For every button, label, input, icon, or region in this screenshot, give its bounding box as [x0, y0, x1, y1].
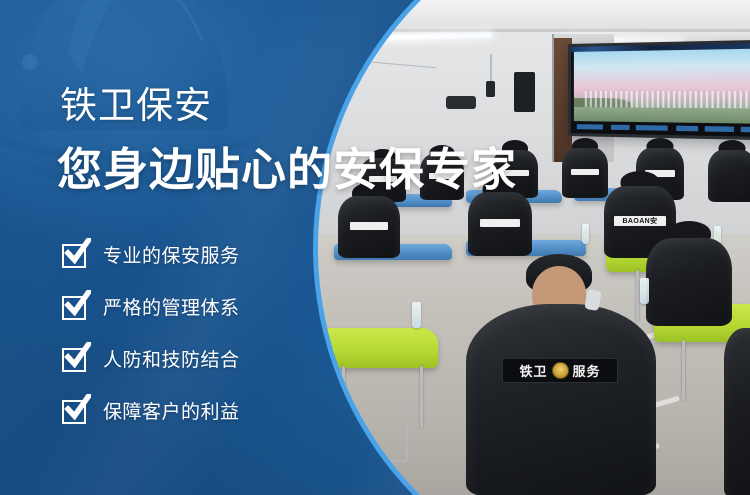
guard-torso [466, 304, 656, 495]
feature-item[interactable]: 专业的保安服务 [62, 238, 240, 270]
uniform-back-patch: 铁卫 服务 [502, 358, 618, 383]
feature-item[interactable]: 严格的管理体系 [62, 290, 240, 322]
guard-person [724, 328, 750, 495]
guard-person [708, 150, 750, 202]
patch-text-right: 服务 [573, 361, 601, 380]
wall-display [568, 39, 750, 140]
display-statusbar [571, 121, 750, 137]
banner-text-content: 铁卫保安 您身边贴心的安保专家 专业的保安服务 严格的管理体系 [0, 0, 340, 495]
checkbox-checked-icon [62, 293, 89, 320]
wall-monitor [446, 96, 476, 109]
feature-label: 严格的管理体系 [103, 293, 240, 320]
water-bottle [582, 224, 589, 244]
desk-leg [682, 340, 685, 400]
feature-item[interactable]: 保障客户的利益 [62, 394, 240, 426]
guard-torso [724, 328, 750, 495]
guard-person [468, 192, 532, 256]
feature-list: 专业的保安服务 严格的管理体系 人防和技防结合 [62, 238, 240, 426]
guard-torso [708, 150, 750, 202]
water-bottle [412, 302, 421, 328]
chair [350, 400, 408, 462]
checkbox-checked-icon [62, 345, 89, 372]
uniform-patch: BAOAN安 [614, 216, 666, 226]
wall-panel [514, 72, 535, 112]
brand-name: 铁卫保安 [60, 87, 212, 124]
display-image [574, 48, 750, 124]
guard-torso [646, 238, 732, 326]
headline: 您身边贴心的安保专家 [57, 145, 517, 195]
ceiling [318, 0, 750, 32]
security-company-banner: BAOAN安 [0, 0, 750, 495]
checkbox-checked-icon [62, 241, 89, 268]
guard-person [338, 196, 400, 258]
classroom-photo: BAOAN安 [318, 0, 750, 495]
checkbox-checked-icon [62, 397, 89, 424]
uniform-patch [480, 219, 520, 227]
uniform-patch [571, 169, 599, 175]
uniform-patch [350, 222, 388, 230]
speaker-stem [490, 54, 492, 82]
guard-person [562, 148, 608, 198]
feature-item[interactable]: 人防和技防结合 [62, 342, 240, 374]
photo-scene: BAOAN安 [318, 0, 750, 495]
security-badge-emblem [552, 362, 569, 379]
desk-leg [342, 366, 345, 432]
feature-label: 专业的保安服务 [103, 241, 240, 268]
feature-label: 人防和技防结合 [103, 345, 240, 372]
guard-person [646, 238, 732, 326]
patch-text-left: 铁卫 [519, 361, 547, 380]
foreground-guard: 铁卫 服务 [466, 266, 656, 495]
feature-label: 保障客户的利益 [103, 397, 240, 424]
wall-speaker [486, 81, 495, 97]
desk-leg [420, 366, 423, 428]
